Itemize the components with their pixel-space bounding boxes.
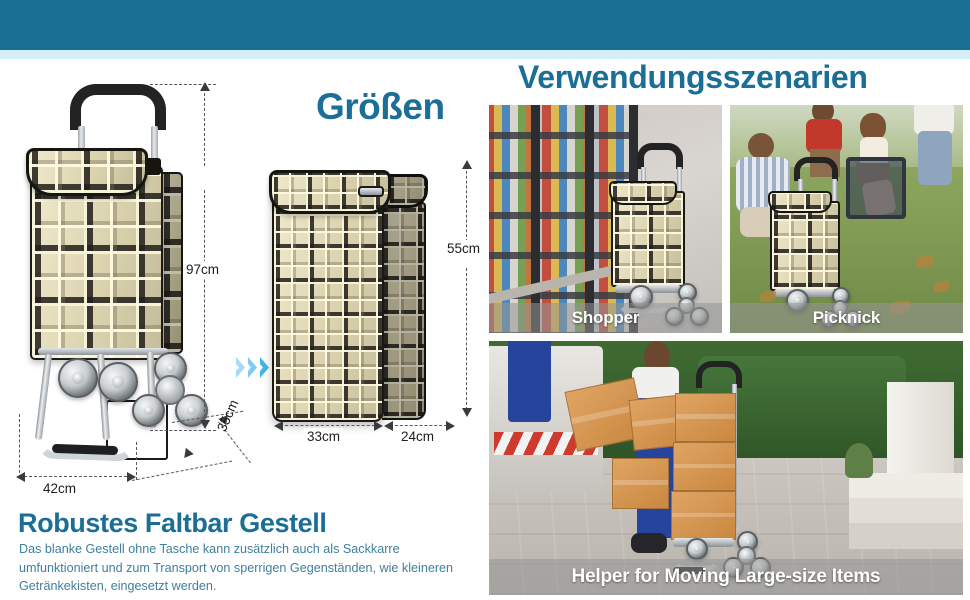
top-brand-bar	[0, 0, 970, 50]
top-accent-band	[0, 50, 970, 59]
dim-label-depth-folded: 24cm	[398, 428, 437, 445]
infographic-page: Größen Verwendungsszenarien	[0, 0, 970, 600]
support-wheel	[686, 538, 708, 560]
shoe	[631, 533, 667, 553]
potted-plant	[845, 443, 873, 479]
folded-front-panel	[272, 196, 384, 422]
photo-shopper: Shopper	[489, 105, 722, 333]
support-wheel-left	[58, 358, 98, 398]
shelf-post	[585, 105, 594, 333]
dim-line-42	[24, 476, 132, 477]
head	[748, 133, 774, 159]
torso	[806, 119, 842, 153]
handle-grip	[637, 143, 683, 169]
handle-grip	[794, 157, 838, 181]
dim-line-24	[390, 425, 452, 426]
chevron-right-icon	[260, 357, 271, 378]
scene-picnic	[730, 105, 963, 333]
folded-flap-clip	[358, 186, 384, 197]
usage-photo-grid: Shopper	[489, 105, 963, 595]
chevron-right-icon	[248, 357, 259, 378]
person-standing	[912, 105, 960, 187]
bag	[770, 201, 840, 291]
overalls	[508, 341, 551, 422]
page-title-usage: Verwendungsszenarien	[518, 60, 968, 95]
feature-description: Das blanke Gestell ohne Tasche kann zusä…	[19, 540, 464, 596]
feature-heading: Robustes Faltbar Gestell	[18, 508, 478, 539]
bag-flap	[609, 181, 677, 205]
folded-side-panel	[382, 202, 426, 420]
dim-line-55-lower	[466, 268, 467, 410]
dim-label-height-open: 97cm	[183, 261, 222, 278]
arrow-left-icon	[384, 421, 393, 431]
dim-label-width-folded: 33cm	[304, 428, 343, 445]
trolley-as-hand-truck	[669, 361, 773, 585]
arrow-right-icon	[446, 421, 455, 431]
jeans	[918, 131, 952, 185]
scene-moving-day	[489, 341, 963, 595]
arrow-down-icon	[462, 408, 472, 417]
trolley-in-store	[607, 143, 703, 315]
trolley-at-picnic	[768, 157, 860, 315]
dim-line-33	[280, 425, 380, 426]
tri-wheel-cluster	[132, 352, 208, 428]
fallen-leaf	[934, 281, 949, 292]
arrow-down-icon	[200, 420, 210, 429]
bag-flap	[768, 191, 832, 213]
photo-caption: Helper for Moving Large-size Items	[489, 559, 963, 595]
bag	[611, 191, 685, 287]
cardboard-box-middle	[673, 442, 736, 491]
photo-caption: Shopper	[489, 303, 722, 333]
dim-label-width-open: 42cm	[40, 480, 79, 497]
frame-leg-front	[35, 354, 52, 440]
mover-in-truck	[508, 341, 551, 422]
shelf-post	[531, 105, 540, 333]
bag-side-panel	[161, 172, 183, 354]
scene-supermarket	[489, 105, 722, 333]
photo-caption: Picknick	[730, 303, 963, 333]
photo-picknick: Picknick	[730, 105, 963, 333]
flap-clip	[145, 158, 161, 175]
fallen-leaf	[760, 291, 776, 302]
cardboard-box-top	[675, 393, 735, 442]
arrow-up-icon	[200, 82, 210, 91]
arrow-right-icon	[374, 421, 383, 431]
folded-flap-side	[388, 174, 428, 208]
dim-label-height-folded: 55cm	[444, 240, 483, 257]
bag-top-flap	[26, 148, 148, 196]
tri-wheel-hub	[155, 375, 185, 405]
arrow-left-icon	[16, 472, 25, 482]
photo-helper-moving: Helper for Moving Large-size Items	[489, 341, 963, 595]
dim-line-55-upper	[466, 166, 467, 242]
dim-line-97-lower	[204, 190, 205, 422]
arrow-left-icon	[274, 421, 283, 431]
dimensions-diagram: 97cm 42cm 35cm	[0, 62, 490, 502]
dim-leader-42-left	[19, 414, 20, 478]
handle-grip	[70, 84, 166, 130]
arrow-up-icon	[462, 160, 472, 169]
chevron-right-icon	[236, 357, 247, 378]
cardboard-box-ground	[612, 458, 669, 509]
fallen-leaf	[916, 255, 934, 268]
product-folded-illustration	[272, 170, 432, 432]
entrance-steps	[849, 473, 963, 549]
dim-leader-depth-base	[132, 461, 232, 481]
dim-line-97-upper	[204, 88, 205, 166]
dim-leader-42-right	[136, 442, 137, 480]
dim-leader-bottom-open	[150, 430, 216, 431]
